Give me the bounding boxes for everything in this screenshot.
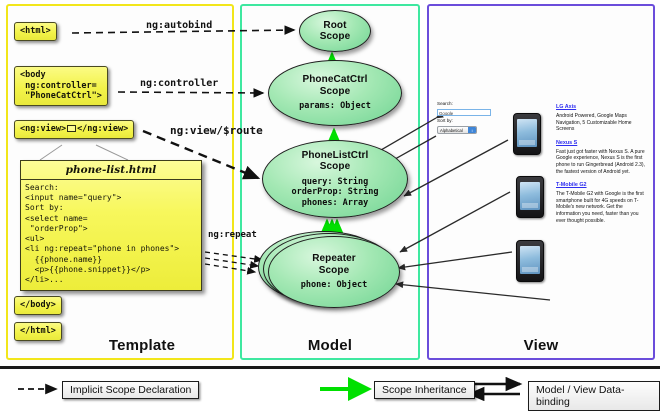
html-end-tag-box: </html> [14, 322, 62, 341]
legend-label-implicit-scope-declaration: Implicit Scope Declaration [62, 381, 199, 399]
connector-label-ng-controller: ng:controller [140, 78, 218, 89]
chevron-down-icon: ↕ [468, 127, 476, 133]
scope-repeater: Repeater Scope phone: Object [268, 236, 400, 308]
phone-screen [517, 119, 537, 147]
phone-thumbnail-lg-axis [513, 113, 541, 155]
list-item: Nexus S Fast just got faster with Nexus … [556, 140, 648, 175]
scope-phonecatctrl-name: PhoneCatCtrl Scope [302, 74, 367, 97]
connector-label-ng-view-route: ng:view/$route [170, 124, 263, 137]
phone-list: LG Axis Android Powered, Google Maps Nav… [556, 104, 648, 231]
scope-phonelistctrl: PhoneListCtrl Scope query: String orderP… [262, 140, 408, 218]
phone-name-link[interactable]: LG Axis [556, 104, 648, 111]
phone-screen [520, 246, 540, 274]
search-input[interactable]: Google [437, 109, 491, 116]
list-item: LG Axis Android Powered, Google Maps Nav… [556, 104, 648, 133]
note-title: phone-list.html [21, 161, 201, 179]
scope-root-name: Root Scope [320, 20, 351, 43]
list-item: T-Mobile G2 The T-Mobile G2 with Google … [556, 182, 648, 224]
phone-snippet: The T-Mobile G2 with Google is the first… [556, 191, 648, 224]
ng-view-close-label: </ng:view> [77, 124, 128, 134]
search-label: Search: [437, 101, 495, 108]
connector-label-ng-autobind: ng:autobind [146, 20, 212, 31]
phone-thumbnail-nexus-s [516, 176, 544, 218]
connector-label-ng-repeat: ng:repeat [208, 230, 257, 240]
diagram-canvas: Template Model View [0, 0, 660, 405]
scope-repeater-props: phone: Object [301, 280, 368, 291]
phone-name-link[interactable]: T-Mobile G2 [556, 182, 648, 189]
body-tag-box: <body ng:controller= "PhoneCatCtrl"> [14, 66, 108, 106]
legend-label-scope-inheritance: Scope Inheritance [374, 381, 475, 399]
legend-label-model-view-data-binding: Model / View Data-binding [528, 381, 660, 411]
column-label-view: View [429, 337, 653, 354]
ng-view-placeholder-icon [67, 125, 76, 132]
sort-select-value: Alphabetical [440, 128, 463, 133]
scope-root: Root Scope [299, 10, 371, 52]
phone-name-link[interactable]: Nexus S [556, 140, 648, 147]
scope-phonecatctrl: PhoneCatCtrl Scope params: Object [268, 60, 402, 126]
body-end-tag-box: </body> [14, 296, 62, 315]
scope-phonelistctrl-name: PhoneListCtrl Scope [302, 150, 369, 173]
ng-view-tag-box: <ng:view></ng:view> [14, 120, 134, 139]
phone-screen [520, 182, 540, 210]
legend-divider [0, 366, 660, 369]
scope-phonelistctrl-props: query: String orderProp: String phones: … [292, 177, 379, 209]
phone-snippet: Android Powered, Google Maps Navigation,… [556, 113, 648, 133]
note-code: Search: <input name="query"> Sort by: <s… [21, 179, 201, 290]
scope-phonecatctrl-props: params: Object [299, 101, 371, 112]
sort-label: Sort by: [437, 118, 495, 125]
phone-list-note: phone-list.html Search: <input name="que… [20, 160, 202, 291]
view-search-form: Search: Google Sort by: Alphabetical ↕ [437, 101, 495, 134]
ng-view-open-label: <ng:view> [20, 124, 66, 134]
scope-repeater-name: Repeater Scope [312, 253, 356, 276]
column-label-model: Model [242, 337, 418, 354]
phone-thumbnail-t-mobile-g2 [516, 240, 544, 282]
phone-snippet: Fast just got faster with Nexus S. A pur… [556, 149, 648, 175]
sort-select[interactable]: Alphabetical ↕ [437, 126, 477, 134]
html-tag-box: <html> [14, 22, 57, 41]
